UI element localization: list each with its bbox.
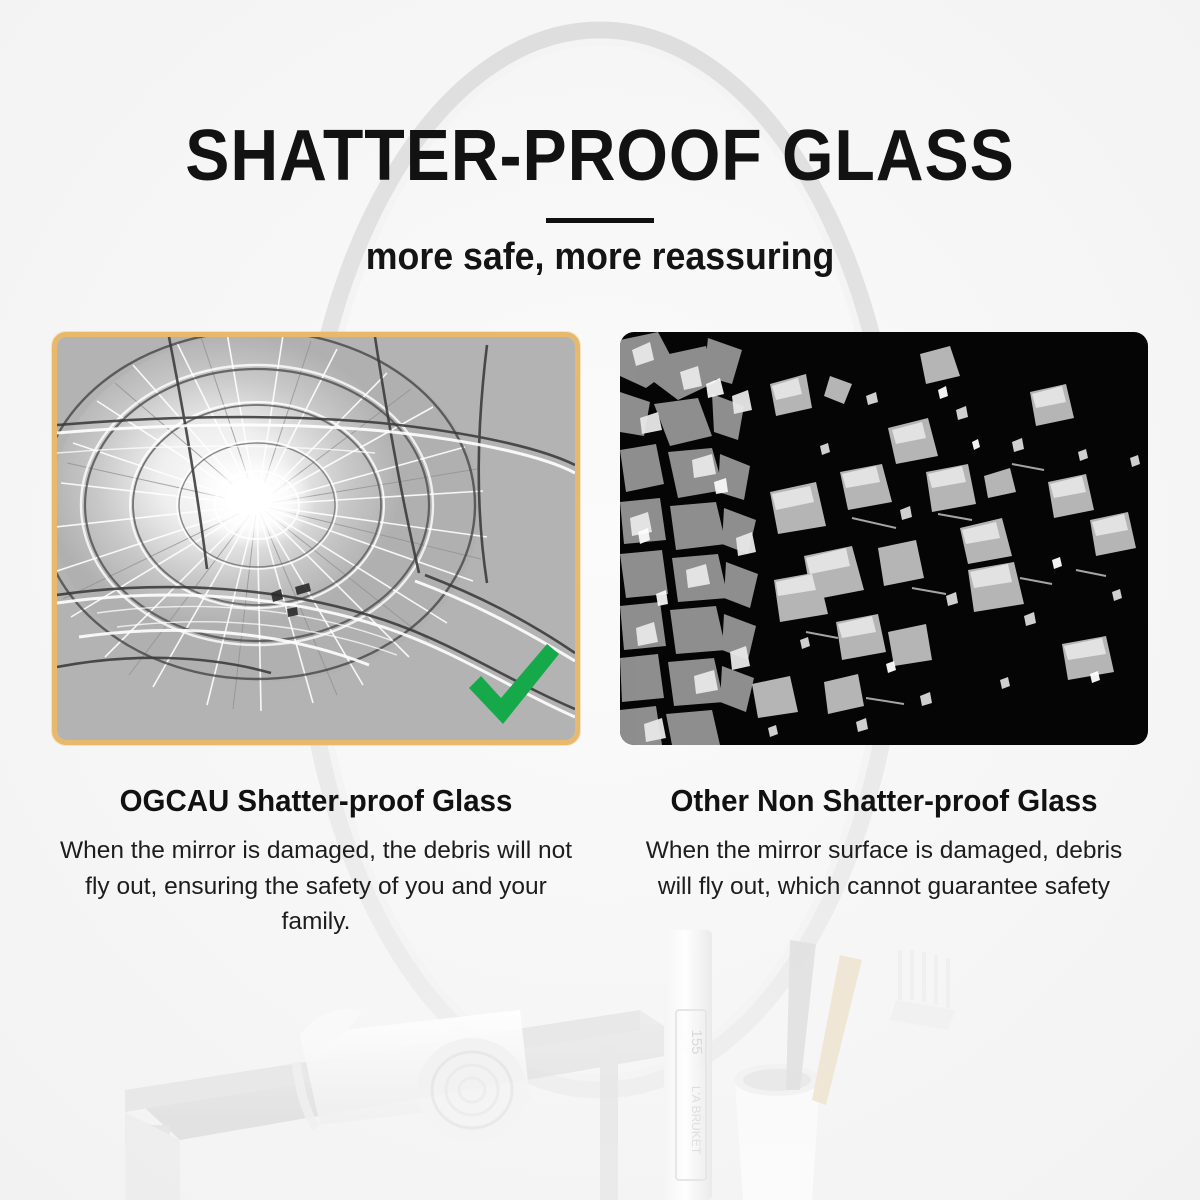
title-divider — [546, 218, 654, 223]
toothbrush-cup — [734, 1064, 820, 1200]
page-title: SHATTER-PROOF GLASS — [48, 120, 1152, 192]
shatterproof-photo-frame — [52, 332, 580, 745]
check-mark-icon — [461, 636, 565, 732]
right-caption-heading: Other Non Shatter-proof Glass — [633, 783, 1135, 819]
left-caption-body: When the mirror is damaged, the debris w… — [52, 833, 580, 940]
flying-shards-image — [620, 332, 1148, 745]
header: SHATTER-PROOF GLASS more safe, more reas… — [0, 0, 1200, 279]
svg-text:L'A BRUKET: L'A BRUKET — [689, 1086, 703, 1155]
svg-text:155: 155 — [688, 1029, 705, 1054]
cosmetic-tube: 155 L'A BRUKET — [664, 930, 712, 1200]
right-caption-body: When the mirror surface is damaged, debr… — [620, 833, 1148, 904]
page-subtitle: more safe, more reassuring — [36, 237, 1164, 279]
toothbrush — [786, 940, 956, 1105]
non-shatterproof-photo-frame — [620, 332, 1148, 745]
rolled-towel — [296, 1009, 530, 1142]
comparison-column-left: OGCAU Shatter-proof Glass When the mirro… — [52, 332, 580, 940]
bathroom-shelf — [125, 1010, 700, 1200]
comparison-column-right: Other Non Shatter-proof Glass When the m… — [620, 332, 1148, 904]
left-caption-heading: OGCAU Shatter-proof Glass — [65, 783, 567, 819]
